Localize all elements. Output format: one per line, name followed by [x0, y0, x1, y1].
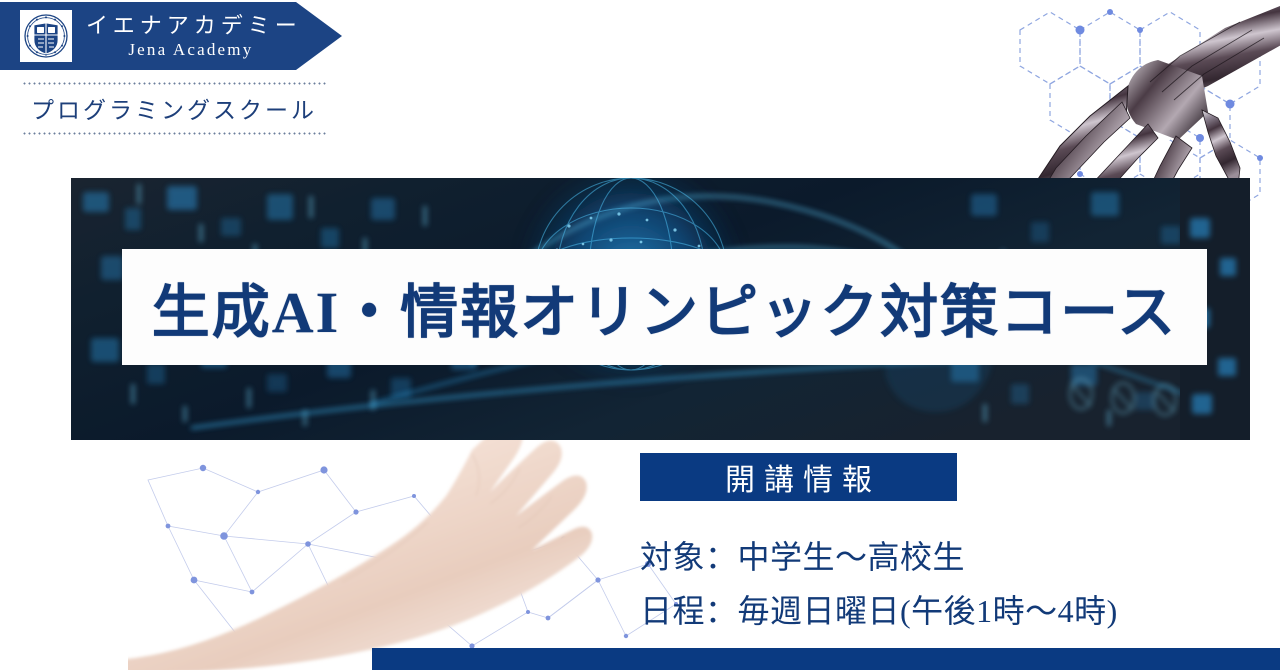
hero-title-plate: 生成AI・情報オリンピック対策コース: [122, 249, 1207, 365]
academy-crest-icon: [20, 10, 72, 62]
course-info-list: 対象：中学生〜高校生 日程：毎週日曜日(午後1時〜4時): [640, 532, 1118, 640]
course-info-schedule: 日程：毎週日曜日(午後1時〜4時): [640, 586, 1118, 632]
dotted-rule-bottom: [22, 132, 326, 135]
brand-name-jp: イエナアカデミー: [86, 15, 302, 37]
human-hand-illustration: [128, 440, 688, 670]
footer-bar: [372, 648, 1280, 670]
status-badge-label: 開講情報: [716, 455, 881, 499]
brand-banner[interactable]: イエナアカデミー Jena Academy: [0, 2, 342, 70]
open-human-hand-icon: [128, 440, 688, 670]
course-info-target: 対象：中学生〜高校生: [640, 532, 1118, 578]
page-title: 生成AI・情報オリンピック対策コース: [152, 265, 1178, 349]
brand-subtitle: プログラミングスクール: [22, 82, 326, 135]
status-badge: 開講情報: [640, 453, 957, 501]
brand-subtitle-text: プログラミングスクール: [22, 85, 326, 132]
brand-name-en: Jena Academy: [86, 41, 302, 58]
landing-page: イエナアカデミー Jena Academy プログラミングスクール: [0, 0, 1280, 670]
